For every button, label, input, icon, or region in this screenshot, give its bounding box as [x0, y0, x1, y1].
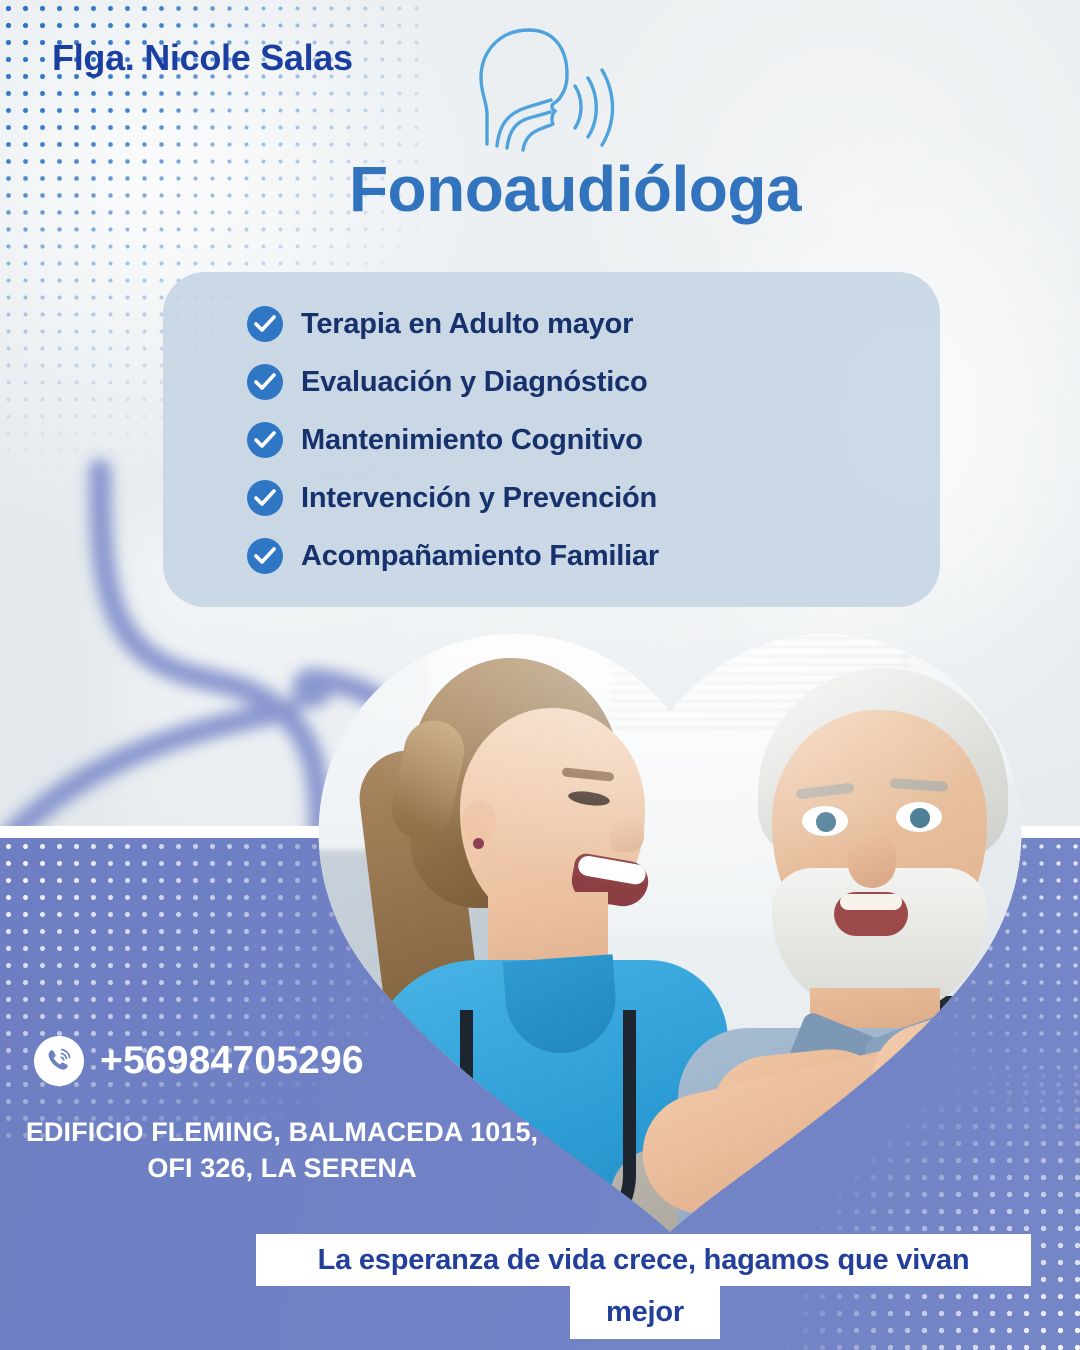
speech-head-soundwave-icon — [455, 22, 615, 152]
service-label: Acompañamiento Familiar — [301, 540, 659, 573]
service-item: Terapia en Adulto mayor — [247, 306, 940, 342]
service-label: Intervención y Prevención — [301, 482, 657, 515]
address-block: EDIFICIO FLEMING, BALMACEDA 1015, OFI 32… — [22, 1114, 542, 1187]
page-title: Fonoaudióloga — [0, 152, 1080, 226]
tagline-line-1: La esperanza de vida crece, hagamos que … — [318, 1244, 970, 1277]
phone-number: +56984705296 — [100, 1039, 364, 1083]
check-circle-icon — [247, 364, 283, 400]
photo-nurse-earring — [473, 838, 484, 849]
address-line-2: OFI 326, LA SERENA — [22, 1150, 542, 1186]
brand-name: Flga. Nicole Salas — [52, 37, 353, 79]
phone-contact[interactable]: +56984705296 — [34, 1036, 364, 1086]
services-panel: Terapia en Adulto mayor Evaluación y Dia… — [163, 272, 940, 607]
service-item: Mantenimiento Cognitivo — [247, 422, 940, 458]
check-circle-icon — [247, 306, 283, 342]
tagline-box-1: La esperanza de vida crece, hagamos que … — [256, 1234, 1031, 1286]
photo-nurse-nose — [610, 812, 644, 852]
photo-man-nose — [848, 832, 896, 888]
photo-man-pupil-left — [816, 812, 836, 832]
poster-canvas: Flga. Nicole Salas Fonoaudióloga Terapia… — [0, 0, 1080, 1350]
tagline-box-2: mejor — [570, 1286, 720, 1339]
service-item: Acompañamiento Familiar — [247, 538, 940, 574]
address-line-1: EDIFICIO FLEMING, BALMACEDA 1015, — [22, 1114, 542, 1150]
check-circle-icon — [247, 480, 283, 516]
tagline-line-2: mejor — [606, 1296, 684, 1329]
service-item: Evaluación y Diagnóstico — [247, 364, 940, 400]
service-item: Intervención y Prevención — [247, 480, 940, 516]
phone-call-icon — [34, 1036, 84, 1086]
photo-man-teeth — [840, 894, 902, 910]
check-circle-icon — [247, 538, 283, 574]
check-circle-icon — [247, 422, 283, 458]
service-label: Terapia en Adulto mayor — [301, 308, 633, 341]
service-label: Mantenimiento Cognitivo — [301, 424, 643, 457]
photo-man-pupil-right — [910, 808, 930, 828]
service-label: Evaluación y Diagnóstico — [301, 366, 648, 399]
